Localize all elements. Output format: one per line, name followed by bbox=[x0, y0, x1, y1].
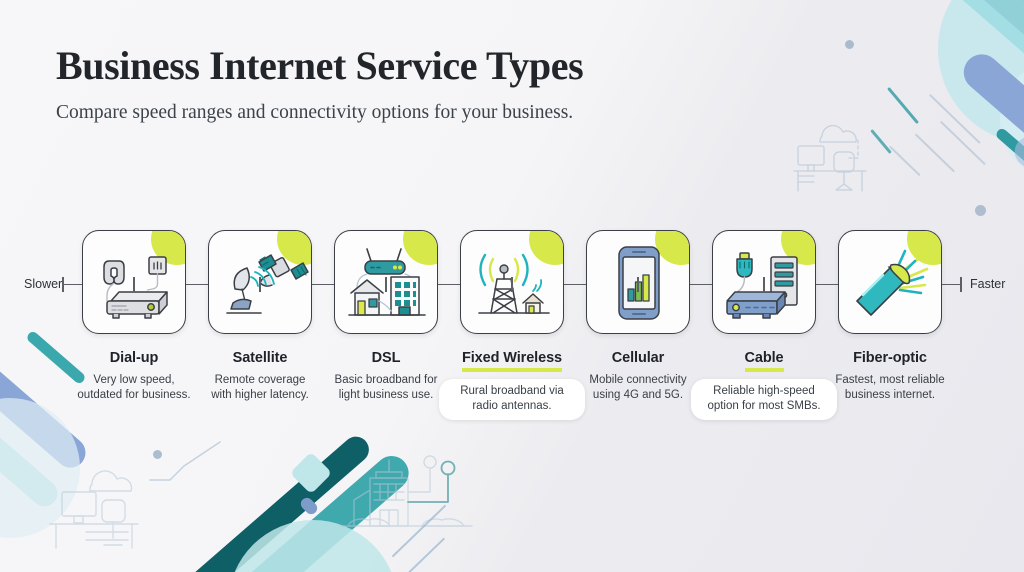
service-name: DSL bbox=[334, 350, 438, 366]
service-description: Mobile connectivity using 4G and 5G. bbox=[565, 373, 711, 403]
speed-line-2 bbox=[940, 121, 986, 165]
service-name: Fiber-optic bbox=[838, 350, 942, 366]
speed-line-1 bbox=[929, 94, 980, 144]
deep-teal-bar-top-right bbox=[910, 0, 1024, 86]
teal-bar-bottom-center bbox=[174, 449, 415, 572]
service-description: Rural broadband via radio antennas. bbox=[439, 379, 585, 420]
office-desk-cloud-line-art-bottom bbox=[40, 450, 185, 550]
office-building-network-line-art bbox=[326, 444, 486, 566]
service-description: Reliable high-speed option for most SMBs… bbox=[691, 379, 837, 420]
service-name-text: Cellular bbox=[612, 350, 664, 366]
timeline-tick bbox=[133, 277, 135, 292]
light-cyan-bar-top-right bbox=[931, 0, 1024, 110]
service-name-text: DSL bbox=[372, 350, 401, 366]
service-name: Cellular bbox=[586, 350, 690, 366]
speed-line-bottom-2 bbox=[405, 538, 445, 572]
timeline-tick bbox=[763, 277, 765, 292]
service-name-text: Satellite bbox=[233, 350, 288, 366]
pale-cyan-blob-top-right-2 bbox=[1000, 60, 1024, 180]
service-name-text: Dial-up bbox=[110, 350, 158, 366]
pale-cyan-blob-top-right bbox=[938, 0, 1024, 144]
service-name: Satellite bbox=[208, 350, 312, 366]
teal-accent-line-1 bbox=[887, 87, 919, 124]
growth-arrow-line-art bbox=[148, 440, 238, 490]
teal-diamond-accent bbox=[290, 452, 332, 494]
teal-accent-line-2 bbox=[870, 129, 892, 154]
dot-top-right-b bbox=[975, 205, 986, 216]
service-name: Cable bbox=[712, 350, 816, 372]
service-description: Fastest, most reliable business internet… bbox=[817, 373, 963, 403]
service-card-list: Dial-up Very low speed, outdated for bus… bbox=[0, 230, 1024, 420]
service-card-cellular[interactable]: Cellular Mobile connectivity using 4G an… bbox=[586, 230, 690, 420]
timeline-tick bbox=[511, 277, 513, 292]
page-subtitle: Compare speed ranges and connectivity op… bbox=[56, 102, 583, 124]
page-title: Business Internet Service Types bbox=[56, 44, 583, 88]
pale-cyan-blob-bottom-center bbox=[228, 520, 398, 572]
service-name: Dial-up bbox=[82, 350, 186, 366]
service-card-fixed-wireless[interactable]: Fixed Wireless Rural broadband via radio… bbox=[460, 230, 564, 420]
speed-line-4 bbox=[889, 146, 920, 176]
service-tile-fiber-optic[interactable] bbox=[838, 230, 942, 334]
teal-bar-top-right-small bbox=[994, 127, 1024, 221]
timeline-tick bbox=[385, 277, 387, 292]
service-description: Basic broadband for light business use. bbox=[313, 373, 459, 403]
fiber-cable-icon bbox=[839, 231, 942, 334]
service-card-fiber-optic[interactable]: Fiber-optic Fastest, most reliable busin… bbox=[838, 230, 942, 420]
service-description: Remote coverage with higher latency. bbox=[187, 373, 333, 403]
service-card-satellite[interactable]: Satellite Remote coverage with higher la… bbox=[208, 230, 312, 420]
header: Business Internet Service Types Compare … bbox=[56, 44, 583, 124]
service-description: Very low speed, outdated for business. bbox=[61, 373, 207, 403]
service-name-text: Fiber-optic bbox=[853, 350, 927, 366]
dot-top-right-a bbox=[845, 40, 854, 49]
service-card-dial-up[interactable]: Dial-up Very low speed, outdated for bus… bbox=[82, 230, 186, 420]
slate-diamond-accent bbox=[298, 495, 319, 516]
timeline-tick bbox=[637, 277, 639, 292]
dot-bottom-left bbox=[153, 450, 162, 459]
service-card-cable[interactable]: Cable Reliable high-speed option for mos… bbox=[712, 230, 816, 420]
service-name-text: Cable bbox=[745, 350, 784, 372]
service-name-text: Fixed Wireless bbox=[462, 350, 562, 372]
office-desk-cloud-line-art-top bbox=[790, 110, 920, 200]
speed-line-3 bbox=[915, 133, 955, 172]
speed-line-bottom-1 bbox=[392, 505, 447, 558]
service-name: Fixed Wireless bbox=[460, 350, 564, 372]
timeline-tick bbox=[259, 277, 261, 292]
deep-teal-bar-bottom-center bbox=[146, 431, 374, 572]
service-card-dsl[interactable]: DSL Basic broadband for light business u… bbox=[334, 230, 438, 420]
slate-blue-bar-top-right bbox=[956, 47, 1024, 225]
infographic-canvas: Business Internet Service Types Compare … bbox=[0, 0, 1024, 572]
